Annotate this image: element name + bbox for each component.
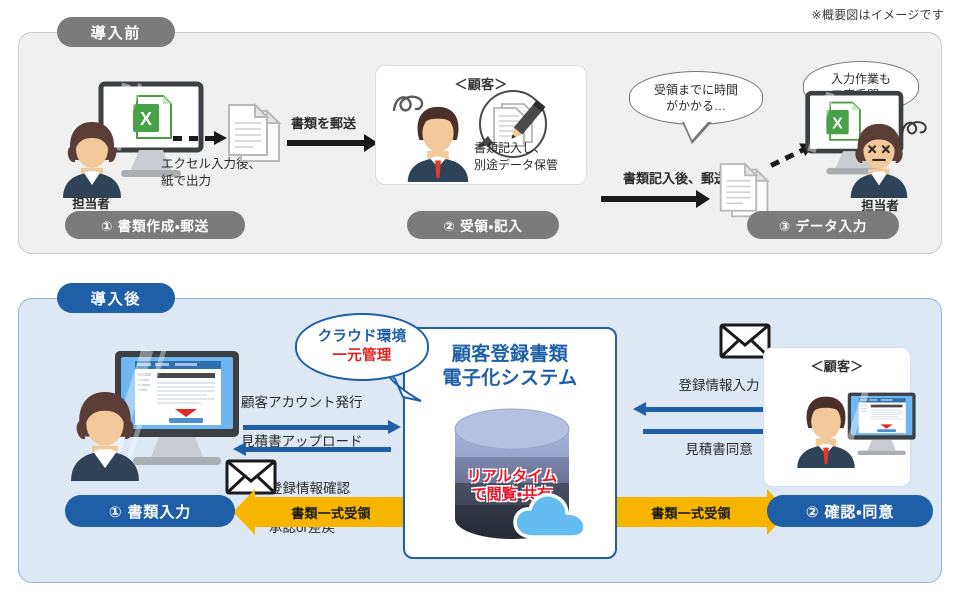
staff-avatar-female-icon-2 <box>839 118 919 198</box>
bubble-delay-complaint: 受領までに時間 がかかる… <box>629 71 763 125</box>
arrow-estimate-agreement <box>643 429 771 434</box>
after-step-1-pill[interactable]: ① 書類入力 <box>65 495 235 527</box>
yellow-left-label: 書類一式受領 <box>255 503 407 522</box>
before-customer-card: ＜顧客＞ <box>375 65 587 185</box>
arrow-register-info-input <box>645 407 773 412</box>
svg-text:X: X <box>140 109 152 129</box>
before-step-1-pill[interactable]: ① 書類作成・郵送 <box>65 211 245 239</box>
before-panel-tab: 導入前 <box>57 17 175 47</box>
after-customer-card-title: ＜顧客＞ <box>764 356 910 375</box>
cloud-bubble-line1: クラウド環境 <box>318 328 407 347</box>
yellow-arrow-left-receipt: 書類一式受領 <box>255 497 407 527</box>
staff-avatar-female-icon <box>51 116 133 198</box>
mail-documents-label: 書類を郵送 <box>291 115 356 133</box>
after-customer-card: ＜顧客＞ <box>763 347 911 487</box>
before-step-3-pill[interactable]: ③ データ入力 <box>747 211 899 239</box>
cloud-icon <box>513 489 587 543</box>
after-step-2-pill[interactable]: ② 確認・同意 <box>767 495 933 527</box>
left-flow-in-line1: 登録情報確認 <box>269 479 419 499</box>
after-left-workstation <box>57 347 247 477</box>
before-customer-caption: 書類記入し、 別途データ保管 <box>474 140 582 173</box>
before-step-2-pill[interactable]: ② 受領・記入 <box>407 211 559 239</box>
after-user-avatar-female-icon <box>57 385 153 481</box>
yellow-arrow-right-receipt: 書類一式受領 <box>615 497 767 527</box>
customer-avatar-male-icon <box>398 102 478 182</box>
image-disclaimer-note: ※概要図はイメージです <box>812 6 944 23</box>
after-panel: 導入後 <box>18 298 942 583</box>
yellow-right-label: 書類一式受領 <box>615 503 767 522</box>
bubble-delay-text: 受領までに時間 がかかる… <box>654 82 738 114</box>
arrow-mail-documents <box>287 140 365 146</box>
staff-right-workstation: X 担当者 <box>789 78 929 198</box>
arrow-excel-to-paper <box>173 136 215 141</box>
paper-documents-icon <box>225 105 285 167</box>
mail-back-label: 書類記入後、郵送 <box>623 170 727 188</box>
after-panel-tab: 導入後 <box>57 283 175 313</box>
before-panel: 導入前 X <box>18 32 942 254</box>
database-cylinder-icon: リアルタイム で閲覧・共有 <box>447 407 577 539</box>
cloud-environment-bubble: クラウド環境 一元管理 <box>295 313 429 381</box>
arrow-issue-account-upload <box>243 425 389 430</box>
after-customer-avatar-male-icon <box>788 392 864 468</box>
cloud-bubble-line2: 一元管理 <box>332 347 391 366</box>
arrow-mail-back <box>601 196 697 202</box>
system-card: 顧客登録書類 電子化システム <box>403 327 617 559</box>
bubble-delay-tail-fill <box>684 122 708 140</box>
arrow-confirm-approve <box>245 447 391 452</box>
